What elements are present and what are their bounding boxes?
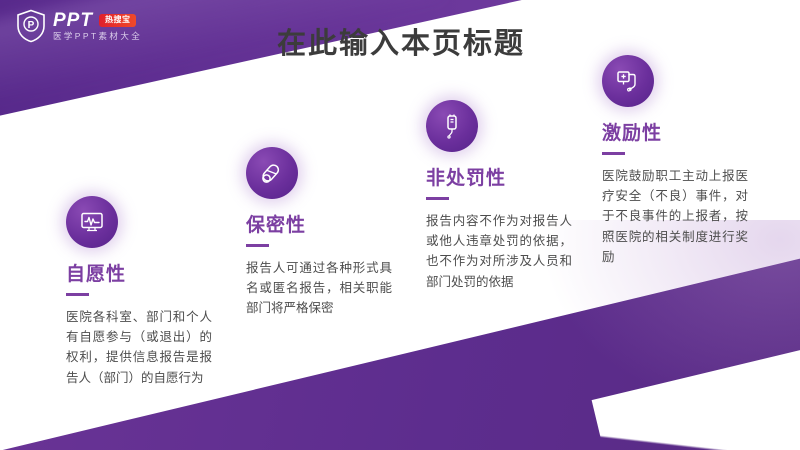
content-column-nonpunitive: 非处罚性 报告内容不作为对报告人或他人违章处罚的依据，也不作为对所涉及人员和部门… xyxy=(426,100,586,292)
svg-text:P: P xyxy=(28,20,35,31)
shield-icon: P xyxy=(16,9,46,43)
brand-logo[interactable]: P PPT 热搜宝 医学PPT素材大全 xyxy=(16,9,142,43)
column-title: 保密性 xyxy=(246,216,406,237)
column-title: 自愿性 xyxy=(66,265,226,286)
column-body: 报告人可通过各种形式具名或匿名报告，相关职能部门将严格保密 xyxy=(246,258,392,319)
content-column-voluntary: 自愿性 医院各科室、部门和个人有自愿参与（或退出）的权利，提供信息报告是报告人（… xyxy=(66,196,226,388)
column-rule xyxy=(246,244,269,247)
site-watermark: w w w . p p t e r . c o m xyxy=(639,430,786,439)
column-body: 报告内容不作为对报告人或他人违章处罚的依据，也不作为对所涉及人员和部门处罚的依据 xyxy=(426,211,572,292)
capsule-pill-icon xyxy=(246,147,298,199)
brand-ppt-text: PPT xyxy=(53,11,93,30)
ecg-monitor-icon xyxy=(66,196,118,248)
brand-tagline: 医学PPT素材大全 xyxy=(53,32,142,41)
column-body: 医院鼓励职工主动上报医疗安全（不良）事件，对于不良事件的上报者，按照医院的相关制… xyxy=(602,166,748,267)
slide-canvas: P PPT 热搜宝 医学PPT素材大全 在此输入本页标题 自愿性 医院各 xyxy=(0,0,800,450)
brand-text: PPT 热搜宝 医学PPT素材大全 xyxy=(53,11,142,41)
content-column-incentive: 激励性 医院鼓励职工主动上报医疗安全（不良）事件，对于不良事件的上报者，按照医院… xyxy=(602,55,762,267)
infusion-pump-icon xyxy=(602,55,654,107)
brand-badge: 热搜宝 xyxy=(99,14,137,27)
column-rule xyxy=(426,197,449,200)
content-column-confidential: 保密性 报告人可通过各种形式具名或匿名报告，相关职能部门将严格保密 xyxy=(246,147,406,319)
brand-text-row: PPT 热搜宝 xyxy=(53,11,142,30)
page-title: 在此输入本页标题 xyxy=(277,20,525,62)
column-body: 医院各科室、部门和个人有自愿参与（或退出）的权利，提供信息报告是报告人（部门）的… xyxy=(66,307,212,388)
column-rule xyxy=(602,152,625,155)
column-title: 非处罚性 xyxy=(426,169,586,190)
iv-drip-icon xyxy=(426,100,478,152)
content-columns: 自愿性 医院各科室、部门和个人有自愿参与（或退出）的权利，提供信息报告是报告人（… xyxy=(0,0,800,450)
column-rule xyxy=(66,293,89,296)
column-title: 激励性 xyxy=(602,124,762,145)
